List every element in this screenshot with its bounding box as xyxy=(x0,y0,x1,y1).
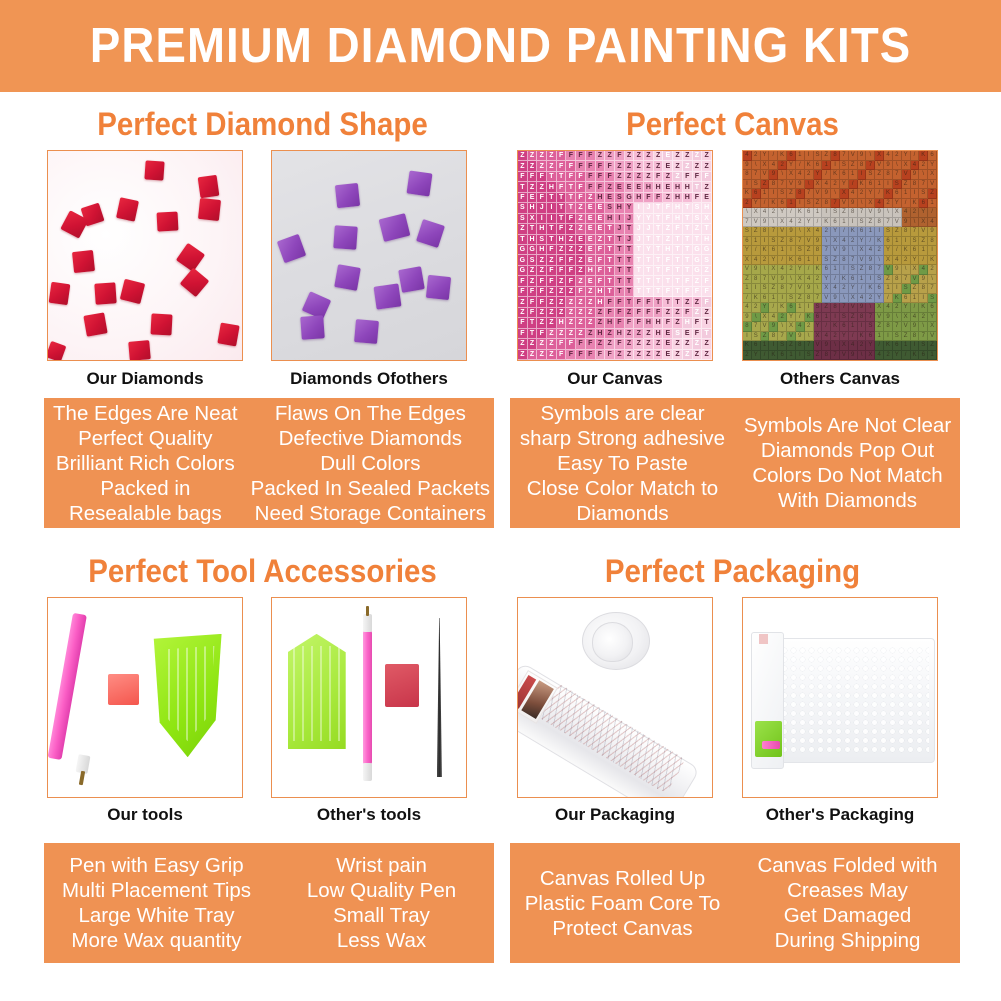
canvas-symbol-cell: I xyxy=(761,237,770,247)
canvas-symbol-cell: Y xyxy=(919,208,928,218)
canvas-symbol-cell: T xyxy=(605,245,615,255)
canvas-symbol-cell: 9 xyxy=(928,227,937,237)
canvas-symbol-cell: / xyxy=(911,151,920,161)
canvas-symbol-cell: Z xyxy=(634,151,644,161)
canvas-symbol-cell: Z xyxy=(693,297,703,307)
canvas-symbol-cell: T xyxy=(528,224,538,234)
canvas-symbol-cell: 7 xyxy=(884,218,893,228)
canvas-symbol-cell: 1 xyxy=(893,237,902,247)
canvas-symbol-cell: K xyxy=(884,189,893,199)
canvas-symbol-cell: F xyxy=(683,276,693,286)
canvas-symbol-cell: Z xyxy=(693,308,703,318)
canvas-symbol-cell: Z xyxy=(576,297,586,307)
canvas-symbol-cell: Z xyxy=(911,284,920,294)
canvas-symbol-cell: J xyxy=(644,224,654,234)
canvas-symbol-cell: 9 xyxy=(875,208,884,218)
canvas-symbol-cell: T xyxy=(625,276,635,286)
canvas-symbol-cell: E xyxy=(663,350,673,360)
canvas-symbol-cell: K xyxy=(858,332,867,342)
canvas-symbol-cell: 9 xyxy=(884,313,893,323)
canvas-symbol-cell: 4 xyxy=(752,256,761,266)
canvas-symbol-cell: I xyxy=(840,265,849,275)
canvas-symbol-cell: 9 xyxy=(814,237,823,247)
canvas-symbol-cell: / xyxy=(796,313,805,323)
canvas-symbol-cell: 2 xyxy=(928,265,937,275)
canvas-symbol-cell: T xyxy=(702,318,712,328)
feature-line: Resealable bags xyxy=(69,501,222,526)
canvas-symbol-cell: H xyxy=(683,318,693,328)
canvas-symbol-cell: Z xyxy=(849,313,858,323)
canvas-symbol-cell: K xyxy=(743,341,752,351)
canvas-symbol-cell: J xyxy=(644,203,654,213)
canvas-symbol-cell: X xyxy=(884,256,893,266)
canvas-symbol-cell: 4 xyxy=(743,151,752,161)
canvas-symbol-cell: 1 xyxy=(761,189,770,199)
canvas-symbol-cell: F xyxy=(547,266,557,276)
canvas-symbol-cell: Z xyxy=(586,329,596,339)
canvas-symbol-cell: 6 xyxy=(866,180,875,190)
canvas-symbol-cell: X xyxy=(769,265,778,275)
canvas-symbol-cell: F xyxy=(663,287,673,297)
canvas-symbol-cell: 7 xyxy=(866,313,875,323)
canvas-symbol-cell: Z xyxy=(566,308,576,318)
canvas-symbol-cell: S xyxy=(919,189,928,199)
canvas-symbol-cell: Z xyxy=(693,276,703,286)
canvas-symbol-cell: 2 xyxy=(893,151,902,161)
canvas-symbol-cell: F xyxy=(557,266,567,276)
canvas-symbol-cell: H xyxy=(596,287,606,297)
canvas-symbol-cell: 7 xyxy=(831,351,840,361)
canvas-symbol-cell: Z xyxy=(615,350,625,360)
canvas-symbol-cell: S xyxy=(805,351,814,361)
canvas-symbol-cell: Z xyxy=(654,339,664,349)
feature-line: Packed in xyxy=(100,476,190,501)
canvas-symbol-cell: 8 xyxy=(928,237,937,247)
caption-our-packaging: Our Packaging xyxy=(517,805,713,825)
canvas-symbol-cell: 2 xyxy=(831,332,840,342)
canvas-symbol-cell: T xyxy=(625,297,635,307)
canvas-symbol-cell: E xyxy=(625,182,635,192)
canvas-symbol-cell: X xyxy=(831,237,840,247)
canvas-symbol-cell: T xyxy=(673,235,683,245)
canvas-symbol-cell: J xyxy=(615,224,625,234)
canvas-symbol-cell: S xyxy=(743,227,752,237)
canvas-symbol-cell: \ xyxy=(858,351,867,361)
canvas-symbol-cell: H xyxy=(615,203,625,213)
canvas-symbol-cell: 1 xyxy=(849,322,858,332)
canvas-symbol-cell: F xyxy=(683,287,693,297)
canvas-symbol-cell: 9 xyxy=(752,265,761,275)
canvas-symbol-cell: F xyxy=(566,350,576,360)
canvas-symbol-cell: S xyxy=(875,275,884,285)
canvas-symbol-cell: F xyxy=(693,329,703,339)
canvas-symbol-cell: T xyxy=(683,224,693,234)
feature-line: Easy To Paste xyxy=(557,451,688,476)
canvas-symbol-cell: 2 xyxy=(761,256,770,266)
canvas-symbol-cell: 2 xyxy=(884,351,893,361)
caption-our-diamonds: Our Diamonds xyxy=(47,369,243,389)
canvas-symbol-cell: S xyxy=(605,203,615,213)
canvas-symbol-cell: X xyxy=(849,294,858,304)
canvas-symbol-cell: Z xyxy=(528,182,538,192)
canvas-symbol-cell: Z xyxy=(625,161,635,171)
canvas-symbol-cell: 1 xyxy=(902,189,911,199)
canvas-symbol-cell: T xyxy=(654,297,664,307)
canvas-symbol-cell: F xyxy=(547,276,557,286)
other-tools-art xyxy=(272,598,466,797)
canvas-symbol-cell: S xyxy=(814,151,823,161)
canvas-symbol-cell: F xyxy=(615,318,625,328)
canvas-symbol-cell: S xyxy=(805,199,814,209)
canvas-symbol-cell: Y xyxy=(884,246,893,256)
canvas-symbol-cell: 4 xyxy=(769,313,778,323)
canvas-symbol-cell: F xyxy=(615,308,625,318)
canvas-symbol-cell: E xyxy=(683,329,693,339)
canvas-symbol-cell: I xyxy=(858,322,867,332)
canvas-symbol-cell: T xyxy=(634,266,644,276)
feature-line: Perfect Quality xyxy=(78,426,212,451)
canvas-symbol-cell: 7 xyxy=(743,218,752,228)
canvas-symbol-cell: Z xyxy=(787,341,796,351)
canvas-symbol-cell: G xyxy=(518,266,528,276)
canvas-symbol-cell: I xyxy=(884,180,893,190)
other-packaging-photo xyxy=(742,597,938,798)
canvas-symbol-cell: E xyxy=(605,193,615,203)
canvas-symbol-cell: \ xyxy=(787,275,796,285)
canvas-symbol-cell: Z xyxy=(576,329,586,339)
canvas-symbol-cell: 4 xyxy=(884,303,893,313)
canvas-symbol-cell: 6 xyxy=(743,237,752,247)
canvas-symbol-cell: / xyxy=(875,189,884,199)
canvas-symbol-cell: 4 xyxy=(814,227,823,237)
canvas-symbol-cell: F xyxy=(566,161,576,171)
caption-other-tools: Other's tools xyxy=(271,805,467,825)
feature-line: Less Wax xyxy=(337,928,426,953)
canvas-symbol-cell: 1 xyxy=(796,303,805,313)
canvas-symbol-cell: 8 xyxy=(805,294,814,304)
page-title: PREMIUM DIAMOND PAINTING KITS xyxy=(90,18,911,74)
section-title-diamond-shape: Perfect Diamond Shape xyxy=(53,106,472,143)
canvas-symbol-cell: F xyxy=(518,276,528,286)
canvas-symbol-cell: F xyxy=(576,161,586,171)
canvas-symbol-cell: S xyxy=(884,227,893,237)
canvas-symbol-cell: 1 xyxy=(875,180,884,190)
canvas-symbol-cell: T xyxy=(625,245,635,255)
canvas-symbol-cell: F xyxy=(615,339,625,349)
canvas-symbol-cell: X xyxy=(928,322,937,332)
feature-line: Flaws On The Edges xyxy=(275,401,466,426)
canvas-symbol-cell: 4 xyxy=(796,322,805,332)
canvas-symbol-cell: Y xyxy=(769,256,778,266)
canvas-symbol-cell: H xyxy=(673,182,683,192)
canvas-symbol-cell: T xyxy=(654,287,664,297)
canvas-symbol-cell: F xyxy=(557,350,567,360)
canvas-symbol-cell: K xyxy=(805,161,814,171)
canvas-symbol-cell: Z xyxy=(528,276,538,286)
canvas-symbol-cell: H xyxy=(683,182,693,192)
canvas-symbol-cell: V xyxy=(778,227,787,237)
canvas-symbol-cell: V xyxy=(761,322,770,332)
canvas-symbol-cell: Y xyxy=(902,303,911,313)
canvas-symbol-cell: E xyxy=(586,276,596,286)
canvas-symbol-cell: 7 xyxy=(911,227,920,237)
canvas-symbol-cell: 8 xyxy=(778,284,787,294)
canvas-symbol-cell: V xyxy=(787,332,796,342)
canvas-symbol-cell: Z xyxy=(557,329,567,339)
canvas-symbol-cell: 7 xyxy=(761,275,770,285)
canvas-symbol-cell: S xyxy=(911,237,920,247)
canvas-symbol-cell: H xyxy=(644,318,654,328)
canvas-symbol-cell: K xyxy=(866,284,875,294)
canvas-symbol-cell: Z xyxy=(596,339,606,349)
canvas-symbol-cell: Y xyxy=(761,303,770,313)
canvas-symbol-cell: F xyxy=(596,350,606,360)
canvas-symbol-cell: X xyxy=(902,313,911,323)
canvas-symbol-cell: F xyxy=(673,224,683,234)
canvas-symbol-cell: 2 xyxy=(893,303,902,313)
other-diamonds-photo xyxy=(271,150,467,361)
feature-line: Diamonds Pop Out xyxy=(761,438,934,463)
canvas-symbol-cell: 8 xyxy=(814,246,823,256)
canvas-symbol-cell: F xyxy=(566,276,576,286)
canvas-symbol-cell: E xyxy=(663,161,673,171)
canvas-symbol-cell: 4 xyxy=(761,208,770,218)
canvas-symbol-cell: 7 xyxy=(805,341,814,351)
canvas-symbol-cell: F xyxy=(566,255,576,265)
canvas-symbol-cell: 7 xyxy=(805,189,814,199)
canvas-symbol-cell: Z xyxy=(644,151,654,161)
canvas-symbol-cell: Z xyxy=(761,180,770,190)
canvas-symbol-cell: / xyxy=(928,208,937,218)
canvas-symbol-cell: Z xyxy=(547,350,557,360)
canvas-symbol-cell: Z xyxy=(615,172,625,182)
canvas-symbol-cell: H xyxy=(634,193,644,203)
canvas-symbol-cell: Z xyxy=(547,308,557,318)
caption-other-diamonds: Diamonds Ofothers xyxy=(271,369,467,389)
canvas-symbol-cell: S xyxy=(902,284,911,294)
feature-line: Canvas Folded with xyxy=(757,853,937,878)
canvas-symbol-cell: T xyxy=(518,235,528,245)
canvas-symbol-cell: 4 xyxy=(822,180,831,190)
canvas-symbol-cell: 4 xyxy=(840,237,849,247)
canvas-symbol-cell: Z xyxy=(814,199,823,209)
canvas-symbol-cell: S xyxy=(761,284,770,294)
canvas-symbol-cell: J xyxy=(537,203,547,213)
canvas-symbol-cell: Y xyxy=(840,332,849,342)
canvas-symbol-cell: 7 xyxy=(858,208,867,218)
canvas-symbol-cell: H xyxy=(596,297,606,307)
feature-col-our-diamonds: The Edges Are Neat Perfect Quality Brill… xyxy=(44,398,247,528)
canvas-symbol-cell: 4 xyxy=(769,161,778,171)
canvas-symbol-cell: Y xyxy=(634,214,644,224)
canvas-symbol-cell: / xyxy=(840,227,849,237)
canvas-symbol-cell: I xyxy=(822,208,831,218)
canvas-symbol-cell: 8 xyxy=(911,332,920,342)
canvas-symbol-cell: 8 xyxy=(822,199,831,209)
canvas-symbol-cell: V xyxy=(814,341,823,351)
canvas-symbol-cell: H xyxy=(528,203,538,213)
canvas-symbol-cell: Z xyxy=(634,329,644,339)
canvas-symbol-cell: 4 xyxy=(911,313,920,323)
canvas-symbol-cell: I xyxy=(752,284,761,294)
canvas-symbol-cell: 4 xyxy=(902,208,911,218)
canvas-symbol-cell: S xyxy=(866,322,875,332)
canvas-symbol-cell: 9 xyxy=(858,303,867,313)
canvas-symbol-cell: K xyxy=(831,322,840,332)
canvas-symbol-cell: Z xyxy=(518,151,528,161)
canvas-symbol-cell: S xyxy=(752,332,761,342)
canvas-symbol-cell: Y xyxy=(893,199,902,209)
canvas-symbol-cell: Z xyxy=(693,350,703,360)
canvas-symbol-cell: Z xyxy=(518,308,528,318)
caption-other-packaging: Other's Packaging xyxy=(742,805,938,825)
canvas-symbol-cell: T xyxy=(654,276,664,286)
canvas-symbol-cell: 9 xyxy=(761,218,770,228)
feature-line: Creases May xyxy=(787,878,908,903)
canvas-symbol-cell: Z xyxy=(693,151,703,161)
canvas-symbol-cell: Z xyxy=(702,350,712,360)
canvas-symbol-cell: J xyxy=(625,214,635,224)
canvas-symbol-cell: 4 xyxy=(787,218,796,228)
canvas-symbol-cell: E xyxy=(586,203,596,213)
canvas-symbol-cell: X xyxy=(752,208,761,218)
canvas-symbol-cell: Z xyxy=(537,318,547,328)
canvas-symbol-cell: I xyxy=(858,170,867,180)
canvas-symbol-cell: Z xyxy=(902,332,911,342)
canvas-symbol-cell: Z xyxy=(596,318,606,328)
canvas-symbol-cell: S xyxy=(693,214,703,224)
feature-line: During Shipping xyxy=(775,928,921,953)
canvas-symbol-cell: 1 xyxy=(796,151,805,161)
canvas-symbol-cell: T xyxy=(634,255,644,265)
canvas-symbol-cell: 6 xyxy=(840,322,849,332)
canvas-symbol-cell: X xyxy=(805,227,814,237)
canvas-symbol-cell: F xyxy=(663,318,673,328)
canvas-symbol-cell: I xyxy=(902,237,911,247)
canvas-symbol-cell: F xyxy=(663,203,673,213)
canvas-symbol-cell: T xyxy=(615,255,625,265)
canvas-symbol-cell: 9 xyxy=(778,275,787,285)
canvas-symbol-cell: 2 xyxy=(778,313,787,323)
canvas-symbol-cell: F xyxy=(586,350,596,360)
canvas-symbol-cell: F xyxy=(663,255,673,265)
canvas-symbol-cell: S xyxy=(831,208,840,218)
canvas-symbol-cell: F xyxy=(576,193,586,203)
canvas-symbol-cell: E xyxy=(634,182,644,192)
canvas-symbol-cell: Z xyxy=(576,318,586,328)
canvas-symbol-cell: F xyxy=(693,287,703,297)
canvas-symbol-cell: F xyxy=(528,297,538,307)
feature-line: Small Tray xyxy=(333,903,430,928)
canvas-symbol-cell: 1 xyxy=(814,208,823,218)
canvas-symbol-cell: Z xyxy=(702,182,712,192)
canvas-symbol-cell: S xyxy=(893,180,902,190)
other-tools-photo xyxy=(271,597,467,798)
canvas-symbol-cell: 8 xyxy=(902,227,911,237)
canvas-symbol-cell: T xyxy=(644,255,654,265)
feature-box-canvas: Symbols are clear sharp Strong adhesive … xyxy=(510,398,960,528)
canvas-symbol-cell: I xyxy=(634,203,644,213)
canvas-symbol-cell: 9 xyxy=(769,322,778,332)
canvas-symbol-cell: G xyxy=(518,245,528,255)
canvas-symbol-cell: Z xyxy=(518,297,528,307)
canvas-symbol-cell: F xyxy=(518,193,528,203)
canvas-symbol-cell: T xyxy=(557,203,567,213)
canvas-symbol-cell: F xyxy=(576,287,586,297)
canvas-symbol-cell: 8 xyxy=(831,151,840,161)
canvas-symbol-cell: E xyxy=(596,203,606,213)
canvas-symbol-cell: Z xyxy=(596,151,606,161)
canvas-symbol-cell: S xyxy=(796,246,805,256)
feature-line: Symbols are clear xyxy=(540,401,704,426)
canvas-symbol-cell: T xyxy=(605,276,615,286)
canvas-symbol-cell: T xyxy=(625,287,635,297)
canvas-symbol-cell: I xyxy=(769,189,778,199)
canvas-symbol-cell: 8 xyxy=(752,275,761,285)
canvas-symbol-cell: F xyxy=(518,287,528,297)
canvas-symbol-cell: H xyxy=(586,266,596,276)
canvas-symbol-cell: K xyxy=(911,199,920,209)
canvas-symbol-cell: 7 xyxy=(919,180,928,190)
canvas-symbol-cell: I xyxy=(911,189,920,199)
canvas-symbol-cell: Z xyxy=(702,266,712,276)
canvas-symbol-cell: / xyxy=(858,284,867,294)
canvas-symbol-cell: Z xyxy=(576,255,586,265)
canvas-symbol-cell: F xyxy=(576,339,586,349)
canvas-symbol-cell: K xyxy=(831,170,840,180)
canvas-symbol-cell: T xyxy=(673,245,683,255)
canvas-symbol-cell: X xyxy=(778,218,787,228)
canvas-symbol-cell: 8 xyxy=(761,227,770,237)
canvas-symbol-cell: F xyxy=(547,245,557,255)
canvas-symbol-cell: X xyxy=(911,265,920,275)
caption-other-canvas: Others Canvas xyxy=(742,369,938,389)
feature-line: Large White Tray xyxy=(78,903,234,928)
canvas-symbol-cell: / xyxy=(761,199,770,209)
canvas-symbol-cell: V xyxy=(902,322,911,332)
canvas-symbol-cell: X xyxy=(702,214,712,224)
canvas-symbol-cell: I xyxy=(547,203,557,213)
canvas-symbol-cell: 8 xyxy=(875,218,884,228)
canvas-symbol-cell: 9 xyxy=(822,189,831,199)
canvas-symbol-cell: F xyxy=(596,266,606,276)
canvas-symbol-cell: V xyxy=(875,313,884,323)
canvas-symbol-cell: Z xyxy=(528,161,538,171)
canvas-symbol-cell: X xyxy=(814,332,823,342)
canvas-symbol-cell: V xyxy=(858,256,867,266)
our-canvas-photo: ZZZZFFFFZZFZZZZEZZZZZZZZFFFFFFZZZZZEZZZZ… xyxy=(517,150,713,361)
feature-col-other-packaging: Canvas Folded with Creases May Get Damag… xyxy=(735,843,960,963)
canvas-symbol-cell: F xyxy=(644,308,654,318)
canvas-symbol-cell: 6 xyxy=(928,303,937,313)
canvas-symbol-cell: T xyxy=(547,193,557,203)
canvas-symbol-cell: Z xyxy=(576,203,586,213)
canvas-symbol-cell: V xyxy=(849,151,858,161)
canvas-symbol-cell: Z xyxy=(605,339,615,349)
canvas-symbol-cell: Y xyxy=(625,203,635,213)
canvas-symbol-cell: 9 xyxy=(884,161,893,171)
canvas-symbol-cell: Z xyxy=(683,339,693,349)
canvas-symbol-cell: 2 xyxy=(805,170,814,180)
canvas-symbol-cell: S xyxy=(537,235,547,245)
canvas-symbol-cell: Y xyxy=(644,245,654,255)
canvas-symbol-cell: 2 xyxy=(866,294,875,304)
canvas-symbol-cell: 6 xyxy=(831,218,840,228)
canvas-symbol-cell: 6 xyxy=(787,303,796,313)
canvas-symbol-cell: V xyxy=(796,284,805,294)
canvas-symbol-cell: X xyxy=(743,256,752,266)
canvas-symbol-cell: H xyxy=(702,235,712,245)
